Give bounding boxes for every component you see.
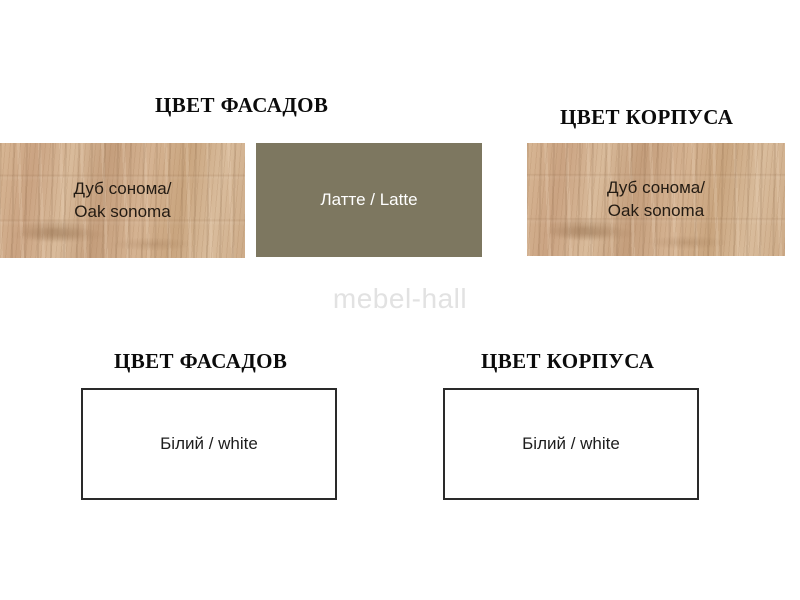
swatch-facade-latte[interactable]: Латте / Latte [256, 143, 482, 257]
swatch-label-corpus-oak-sonoma: Дуб сонома/ Oak sonoma [607, 177, 705, 223]
swatch-corpus-white[interactable]: Білий / white [443, 388, 699, 500]
swatch-label-corpus-white: Білий / white [522, 433, 620, 456]
swatch-facade-white[interactable]: Білий / white [81, 388, 337, 500]
color-options-canvas: ЦВЕТ ФАСАДОВ ЦВЕТ КОРПУСА Дуб сонома/ Oa… [0, 0, 800, 600]
heading-facade-color-bottom: ЦВЕТ ФАСАДОВ [114, 351, 287, 372]
heading-corpus-color-top: ЦВЕТ КОРПУСА [560, 107, 733, 128]
swatch-label-facade-white: Білий / white [160, 433, 258, 456]
swatch-facade-oak-sonoma[interactable]: Дуб сонома/ Oak sonoma [0, 143, 245, 258]
heading-corpus-color-bottom: ЦВЕТ КОРПУСА [481, 351, 654, 372]
swatch-label-facade-oak-sonoma: Дуб сонома/ Oak sonoma [74, 178, 172, 224]
watermark-mebel-hall: mebel-hall [0, 283, 800, 315]
swatch-label-facade-latte: Латте / Latte [320, 189, 417, 212]
heading-facade-color-top: ЦВЕТ ФАСАДОВ [155, 95, 328, 116]
swatch-corpus-oak-sonoma[interactable]: Дуб сонома/ Oak sonoma [527, 143, 785, 256]
